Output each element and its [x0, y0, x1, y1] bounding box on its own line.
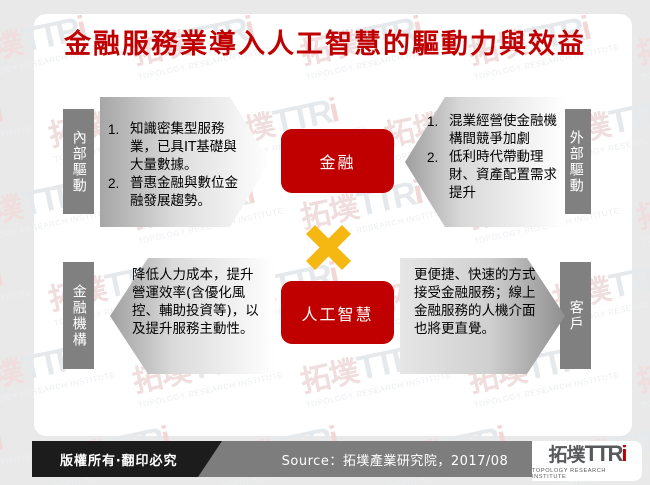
list-item: 2. 普惠金融與數位金融發展趨勢。: [108, 175, 248, 211]
footer-copyright-text: 版權所有‧翻印必究: [32, 450, 178, 469]
list-item-number: 1.: [108, 121, 124, 175]
label-financial-institution: 金融機構: [63, 262, 94, 369]
watermark-tile: 拓墣TTRiTOPOLOGY RESEARCH INSTITUTE: [632, 163, 650, 246]
tri-logo: 拓墣 TTR i TOPOLOGY RESEARCH INSTITUTE: [532, 441, 642, 481]
tri-logo-dot: i: [621, 443, 625, 465]
watermark-tile: 拓墣TTRiTOPOLOGY RESEARCH INSTITUTE: [0, 245, 32, 328]
multiply-icon: [306, 225, 351, 270]
watermark-tile: 拓墣TTRiTOPOLOGY RESEARCH INSTITUTE: [0, 81, 32, 164]
tri-logo-subtitle: TOPOLOGY RESEARCH INSTITUTE: [532, 468, 642, 480]
footer-source: Source：拓墣產業研究院，2017/08: [230, 441, 560, 477]
list-top-right: 1. 混業經營使金融機構間競爭加劇 2. 低利時代帶動理財、資產配置需求提升: [427, 113, 557, 203]
tri-logo-letters: TTR: [585, 443, 622, 465]
list-item-number: 2.: [427, 149, 443, 203]
list-top-left: 1. 知識密集型服務業，已具IT基礎與大量數據。 2. 普惠金融與數位金融發展趨…: [108, 121, 248, 211]
list-item-text: 知識密集型服務業，已具IT基礎與大量數據。: [130, 121, 248, 175]
box-artificial-intelligence: 人工智慧: [281, 281, 394, 344]
slide-root: 拓墣TTRiTOPOLOGY RESEARCH INSTITUTE拓墣TTRiT…: [0, 0, 650, 485]
chevron-bottom-left: 降低人力成本，提升營運效率(含優化風控、輔助投資等)，以及提升服務主動性。: [110, 258, 275, 374]
list-item: 2. 低利時代帶動理財、資產配置需求提升: [427, 149, 557, 203]
chevron-bottom-right: 更便捷、快速的方式接受金融服務；線上金融服務的人機介面也將更直覺。: [400, 258, 565, 374]
label-inner-driver: 內部驅動: [63, 109, 94, 214]
list-item-text: 低利時代帶動理財、資產配置需求提升: [449, 149, 557, 203]
chevron-top-right: 1. 混業經營使金融機構間競爭加劇 2. 低利時代帶動理財、資產配置需求提升: [405, 97, 565, 227]
watermark-tile: 拓墣TTRiTOPOLOGY RESEARCH INSTITUTE: [632, 327, 650, 410]
list-item: 1. 混業經營使金融機構間競爭加劇: [427, 113, 557, 149]
footer: Source：拓墣產業研究院，2017/08 版權所有‧翻印必究 拓墣 TTR …: [0, 437, 650, 485]
footer-copyright-banner: 版權所有‧翻印必究: [32, 441, 222, 477]
list-item: 1. 知識密集型服務業，已具IT基礎與大量數據。: [108, 121, 248, 175]
tri-logo-cn: 拓墣: [549, 446, 585, 465]
list-item-text: 普惠金融與數位金融發展趨勢。: [130, 175, 248, 211]
text-bottom-left: 降低人力成本，提升營運效率(含優化風控、輔助投資等)，以及提升服務主動性。: [132, 267, 264, 339]
tri-logo-wordmark: 拓墣 TTR i: [549, 443, 626, 465]
list-item-number: 2.: [108, 175, 124, 211]
chevron-top-left: 1. 知識密集型服務業，已具IT基礎與大量數據。 2. 普惠金融與數位金融發展趨…: [100, 97, 270, 227]
text-bottom-right: 更便捷、快速的方式接受金融服務；線上金融服務的人機介面也將更直覺。: [414, 267, 544, 339]
box-finance: 金融: [281, 129, 394, 193]
list-item-text: 混業經營使金融機構間競爭加劇: [449, 113, 557, 149]
page-title: 金融服務業導入人工智慧的驅動力與效益: [0, 22, 650, 61]
list-item-number: 1.: [427, 113, 443, 149]
